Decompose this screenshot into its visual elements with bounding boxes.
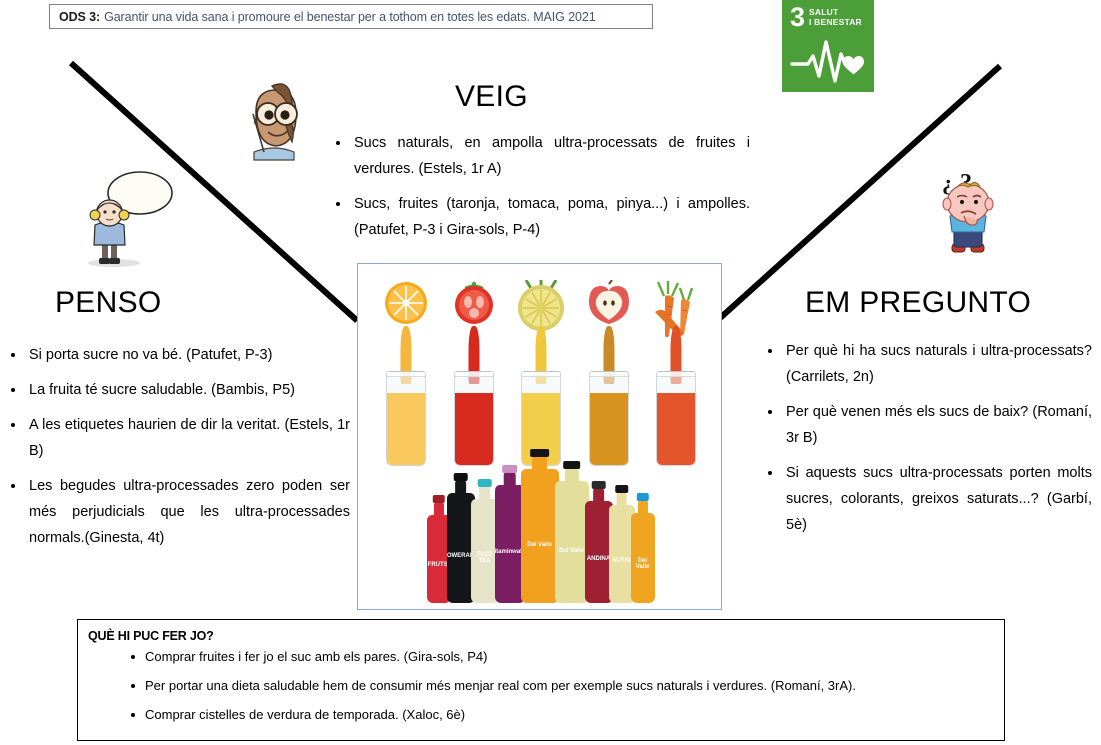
juices-photo-card: FRUTSIPOWERADEFUZE TEAvitaminwaterDel Va… [357,263,722,610]
sdg-3-logo: 3 SALUT I BENESTAR [782,0,874,92]
juice-glass [386,371,426,466]
action-box-list: Comprar fruites i fer jo el suc amb els … [88,648,994,723]
bottle-cap [563,461,581,469]
ods-code: ODS 3: [59,10,100,24]
orange-slice-icon [383,280,429,331]
list-item: Per què hi ha sucs naturals i ultra-proc… [762,338,1092,390]
confused-boy-icon: ¿ ? [930,168,1006,260]
ods-banner: ODS 3: Garantir una vida sana i promoure… [49,4,653,29]
sdg-title-line1: SALUT [809,7,838,17]
list-item: Comprar cistelles de verdura de temporad… [88,706,994,723]
heartbeat-heart-icon [790,36,866,86]
list-item: A les etiquetes haurien de dir la verita… [5,412,350,464]
list-item: Si porta sucre no va bé. (Patufet, P-3) [5,342,350,368]
bottle-neck [532,456,548,470]
fresh-juice-glasses [376,278,706,468]
bottle-cap [477,479,492,487]
bottle-neck [564,468,578,482]
action-box-title: QUÈ HI PUC FER JO? [88,629,994,643]
sdg-logo-text: 3 SALUT I BENESTAR [790,5,862,29]
section-title-em-pregunto: EM PREGUNTO [805,286,1031,320]
list-item: Per portar una dieta saludable hem de co… [88,677,994,694]
juice-glass [454,371,494,466]
orange-juice [376,278,436,468]
glass-rim [387,372,425,377]
bottle-label: Del Valle [555,530,589,571]
bottle-cap [502,465,518,473]
sdg-title: SALUT I BENESTAR [809,5,862,27]
glass-rim [455,372,493,377]
thinking-girl-icon [62,165,182,270]
list-item: Per què venen més els sucs de baix? (Rom… [762,399,1092,451]
ods-description: Garantir una vida sana i promoure el ben… [104,10,595,24]
bottle-neck [433,502,443,516]
carrot-juice [646,278,706,468]
bottle-label: Del Valle [521,523,559,569]
section-title-penso: PENSO [55,286,162,320]
bottle-label: Del Valle [631,549,655,580]
bottle-neck [593,488,605,502]
tomato-juice [444,278,504,468]
watching-face-icon [238,82,310,162]
bottle-neck [455,480,467,494]
bottle-neck [616,492,627,506]
sdg-title-line2: I BENESTAR [809,17,862,27]
bottle-cap [432,495,444,503]
list-item: Sucs, fruites (taronja, tomaca, poma, pi… [330,191,750,243]
juice-glass [589,371,629,466]
section-title-veig: VEIG [455,80,528,114]
bottled-drink: Del Valle [631,513,655,603]
bottle-neck [479,486,491,500]
juice-glass [656,371,696,466]
tomato-half-icon [451,280,497,331]
sdg-number: 3 [790,5,805,29]
apple-half-icon [586,280,632,331]
bottled-drinks-row: FRUTSIPOWERADEFUZE TEAvitaminwaterDel Va… [368,453,713,603]
list-item: La fruita té sucre saludable. (Bambis, P… [5,377,350,403]
bottle-cap [615,485,629,493]
bottled-drink: Del Valle [555,481,589,603]
apple-juice [579,278,639,468]
bottle-neck [637,500,647,514]
action-box: QUÈ HI PUC FER JO? Comprar fruites i fer… [77,619,1005,741]
list-item: Comprar fruites i fer jo el suc amb els … [88,648,994,665]
bottle-cap [591,481,606,489]
penso-list: Si porta sucre no va bé. (Patufet, P-3) … [5,342,350,560]
veig-list: Sucs naturals, en ampolla ultra-processa… [330,130,750,252]
glass-rim [590,372,628,377]
glass-rim [522,372,560,377]
bottle-cap [636,493,648,501]
pineapple-juice [511,278,571,468]
list-item: Les begudes ultra-processades zero poden… [5,473,350,551]
bottle-neck [503,472,516,486]
list-item: Sucs naturals, en ampolla ultra-processa… [330,130,750,182]
em-pregunto-list: Per què hi ha sucs naturals i ultra-proc… [762,338,1092,547]
list-item: Si aquests sucs ultra-processats porten … [762,460,1092,538]
bottle-cap [453,473,468,481]
bottled-drink: Del Valle [521,469,559,603]
bottle-cap [530,449,550,457]
glass-rim [657,372,695,377]
